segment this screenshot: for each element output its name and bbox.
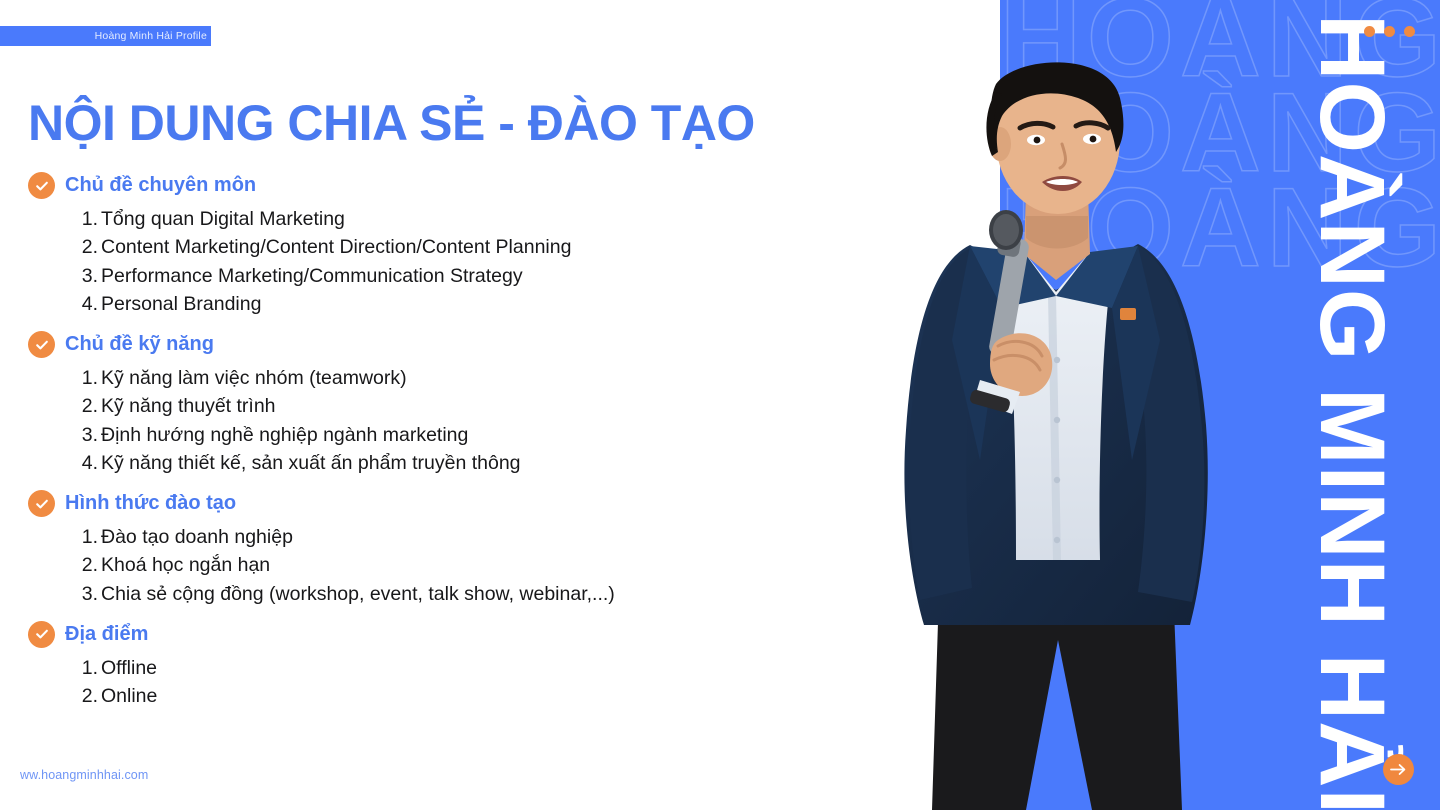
list-item-number: 2. — [76, 392, 98, 420]
profile-tag-bar: Hoàng Minh Hải Profile — [0, 26, 211, 46]
list-item-number: 1. — [76, 654, 98, 682]
list-item-number: 2. — [76, 682, 98, 710]
list-item-text: Online — [101, 682, 157, 710]
section-title: Hình thức đào tạo — [65, 492, 236, 515]
dots-indicator — [1364, 26, 1415, 37]
section-title: Địa điểm — [65, 623, 148, 646]
list-item-text: Đào tạo doanh nghiệp — [101, 523, 293, 551]
list-item-text: Tổng quan Digital Marketing — [101, 205, 345, 233]
dot-3 — [1404, 26, 1415, 37]
list-item-text: Personal Branding — [101, 290, 261, 318]
arrow-right-icon — [1390, 763, 1407, 776]
section-dia-diem: Địa điểm 1.Offline 2.Online — [28, 621, 958, 711]
check-circle-icon — [28, 331, 55, 358]
list-item-number: 1. — [76, 364, 98, 392]
list-item-number: 3. — [76, 262, 98, 290]
section-list: 1.Offline 2.Online — [28, 654, 958, 711]
section-chu-de-ky-nang: Chủ đề kỹ năng 1.Kỹ năng làm việc nhóm (… — [28, 331, 958, 477]
speaker-photo — [820, 40, 1290, 810]
next-slide-button[interactable] — [1383, 754, 1414, 785]
page-title: NỘI DUNG CHIA SẺ - ĐÀO TẠO — [28, 96, 755, 150]
section-list: 1.Tổng quan Digital Marketing 2.Content … — [28, 205, 958, 318]
section-heading-row: Chủ đề chuyên môn — [28, 172, 958, 199]
list-item-text: Kỹ năng thiết kế, sản xuất ấn phẩm truyề… — [101, 449, 521, 477]
list-item-number: 1. — [76, 523, 98, 551]
content-sections: Chủ đề chuyên môn 1.Tổng quan Digital Ma… — [28, 172, 958, 710]
check-circle-icon — [28, 172, 55, 199]
list-item-number: 2. — [76, 551, 98, 579]
list-item-text: Kỹ năng làm việc nhóm (teamwork) — [101, 364, 407, 392]
check-circle-icon — [28, 490, 55, 517]
section-list: 1.Kỹ năng làm việc nhóm (teamwork) 2.Kỹ … — [28, 364, 958, 477]
list-item-number: 3. — [76, 421, 98, 449]
list-item-text: Định hướng nghề nghiệp ngành marketing — [101, 421, 468, 449]
section-list: 1.Đào tạo doanh nghiệp 2.Khoá học ngắn h… — [28, 523, 958, 608]
section-heading-row: Hình thức đào tạo — [28, 490, 958, 517]
vertical-name-wrap: HOÀNG MINH HẢI — [1294, 0, 1414, 810]
list-item-text: Kỹ năng thuyết trình — [101, 392, 276, 420]
section-title: Chủ đề chuyên môn — [65, 174, 256, 197]
list-item-text: Chia sẻ cộng đồng (workshop, event, talk… — [101, 580, 615, 608]
dot-1 — [1364, 26, 1375, 37]
list-item-number: 1. — [76, 205, 98, 233]
website-url[interactable]: ww.hoangminhhai.com — [20, 768, 148, 782]
check-circle-icon — [28, 621, 55, 648]
profile-tag-label: Hoàng Minh Hải Profile — [95, 30, 211, 42]
list-item-number: 4. — [76, 290, 98, 318]
section-hinh-thuc-dao-tao: Hình thức đào tạo 1.Đào tạo doanh nghiệp… — [28, 490, 958, 608]
section-heading-row: Chủ đề kỹ năng — [28, 331, 958, 358]
dot-2 — [1384, 26, 1395, 37]
list-item-text: Khoá học ngắn hạn — [101, 551, 270, 579]
list-item-text: Offline — [101, 654, 157, 682]
section-chu-de-chuyen-mon: Chủ đề chuyên môn 1.Tổng quan Digital Ma… — [28, 172, 958, 318]
slide-canvas: Hoàng Minh Hải Profile NỘI DUNG CHIA SẺ … — [0, 0, 1440, 810]
vertical-name-text: HOÀNG MINH HẢI — [1306, 14, 1398, 810]
section-title: Chủ đề kỹ năng — [65, 333, 214, 356]
section-heading-row: Địa điểm — [28, 621, 958, 648]
list-item-number: 2. — [76, 233, 98, 261]
list-item-text: Content Marketing/Content Direction/Cont… — [101, 233, 571, 261]
list-item-text: Performance Marketing/Communication Stra… — [101, 262, 523, 290]
list-item-number: 4. — [76, 449, 98, 477]
list-item-number: 3. — [76, 580, 98, 608]
